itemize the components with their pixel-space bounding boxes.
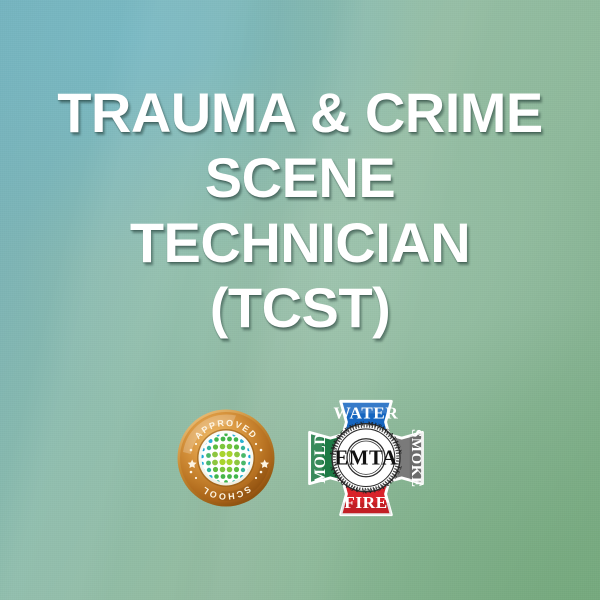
emta-center-medallion: EMERGENCY MITIGATION TECHNICIAN ACADEMY … bbox=[330, 421, 402, 493]
arm-label-water: WATER bbox=[334, 404, 399, 423]
title-line-2: SCENE bbox=[0, 145, 600, 210]
arm-label-smoke: SMOKE bbox=[408, 429, 424, 488]
arm-label-mold: MOLD bbox=[312, 433, 329, 484]
approved-school-badge-icon: APPROVED SCHOOL bbox=[176, 408, 276, 508]
title-line-3: TECHNICIAN bbox=[0, 210, 600, 275]
page-title: TRAUMA & CRIME SCENE TECHNICIAN (TCST) bbox=[0, 80, 600, 340]
emta-acronym: EMTA bbox=[335, 448, 398, 470]
arm-label-fire: FIRE bbox=[344, 493, 388, 512]
title-line-4: (TCST) bbox=[0, 275, 600, 340]
badge-row: APPROVED SCHOOL bbox=[0, 392, 600, 524]
emta-maltese-cross-icon: WATER FIRE MOLD SMOKE EMERGENCY MITIGATI… bbox=[308, 399, 424, 517]
course-poster: TRAUMA & CRIME SCENE TECHNICIAN (TCST) bbox=[0, 0, 600, 600]
title-line-1: TRAUMA & CRIME bbox=[0, 80, 600, 145]
